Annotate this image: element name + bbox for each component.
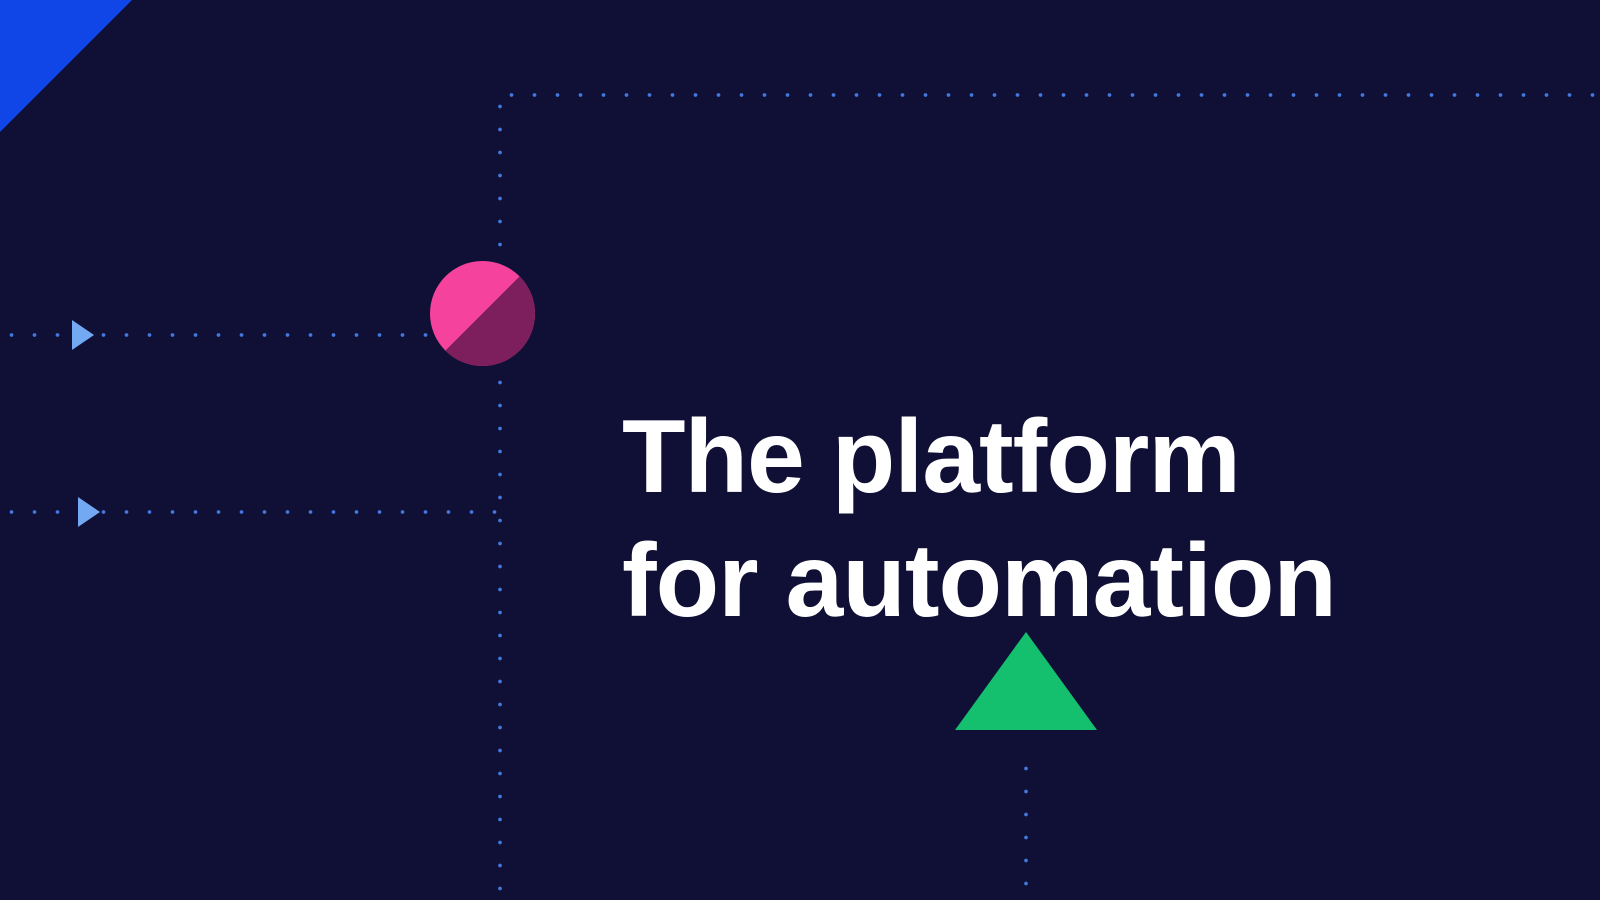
headline-line-2: for automation bbox=[622, 519, 1336, 643]
hero-canvas: The platform for automation bbox=[0, 0, 1600, 900]
page-title: The platform for automation bbox=[622, 395, 1336, 643]
center-vertical-dotted-path bbox=[498, 95, 502, 900]
lower-arrow-dotted-path bbox=[0, 510, 500, 514]
green-triangle-icon bbox=[955, 632, 1097, 730]
triangle-vertical-dotted-path bbox=[1024, 757, 1028, 900]
upper-arrow-dotted-path bbox=[0, 333, 432, 337]
pink-split-circle-icon bbox=[430, 261, 535, 366]
lower-path-arrow-icon bbox=[78, 497, 100, 527]
blue-corner-triangle-icon bbox=[0, 0, 132, 132]
upper-path-arrow-icon bbox=[72, 320, 94, 350]
top-horizontal-dotted-path bbox=[500, 93, 1600, 97]
headline-line-1: The platform bbox=[622, 395, 1336, 519]
